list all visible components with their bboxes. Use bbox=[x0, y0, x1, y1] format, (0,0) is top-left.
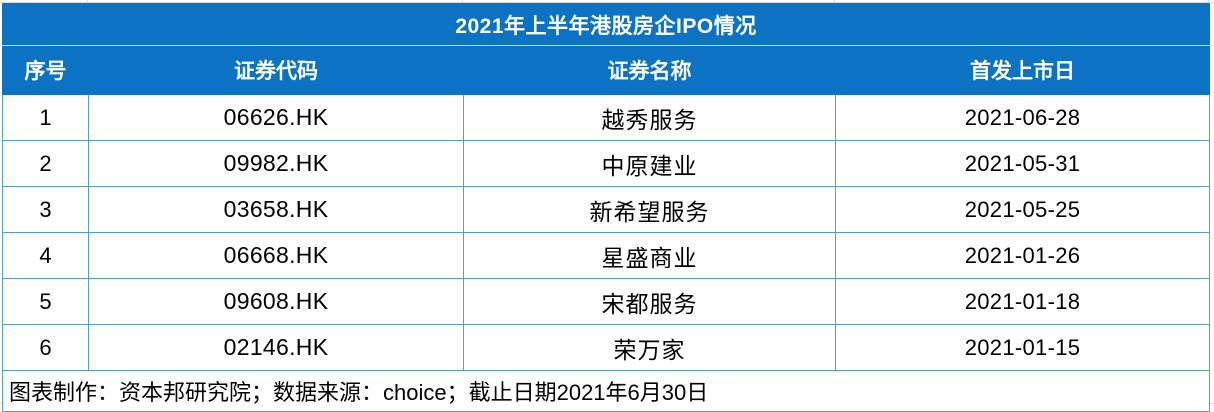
table-row: 3 03658.HK 新希望服务 2021-05-25 bbox=[3, 187, 1210, 233]
cell-code[interactable]: 03658.HK bbox=[89, 187, 464, 233]
ipo-table: 2021年上半年港股房企IPO情况 序号 证券代码 证券名称 首发上市日 1 0… bbox=[2, 3, 1210, 412]
table-row: 6 02146.HK 荣万家 2021-01-15 bbox=[3, 325, 1210, 371]
table-footer-row: 图表制作：资本邦研究院；数据来源：choice；截止日期2021年6月30日 bbox=[3, 371, 1210, 412]
cell-code[interactable]: 06668.HK bbox=[89, 233, 464, 279]
cell-code[interactable]: 09608.HK bbox=[89, 279, 464, 325]
spreadsheet-canvas: 2021年上半年港股房企IPO情况 序号 证券代码 证券名称 首发上市日 1 0… bbox=[0, 0, 1214, 412]
cell-date[interactable]: 2021-06-28 bbox=[836, 95, 1210, 141]
cell-date[interactable]: 2021-05-25 bbox=[836, 187, 1210, 233]
cell-no[interactable]: 3 bbox=[3, 187, 89, 233]
cell-name[interactable]: 星盛商业 bbox=[464, 233, 836, 279]
cell-no[interactable]: 5 bbox=[3, 279, 89, 325]
cell-no[interactable]: 1 bbox=[3, 95, 89, 141]
cell-name[interactable]: 新希望服务 bbox=[464, 187, 836, 233]
column-header-code[interactable]: 证券代码 bbox=[89, 46, 464, 95]
table-title-row: 2021年上半年港股房企IPO情况 bbox=[3, 4, 1210, 46]
column-header-date[interactable]: 首发上市日 bbox=[836, 46, 1210, 95]
column-header-no[interactable]: 序号 bbox=[3, 46, 89, 95]
ipo-table-container: 2021年上半年港股房企IPO情况 序号 证券代码 证券名称 首发上市日 1 0… bbox=[2, 3, 1209, 404]
table-row: 5 09608.HK 宋都服务 2021-01-18 bbox=[3, 279, 1210, 325]
cell-name[interactable]: 宋都服务 bbox=[464, 279, 836, 325]
cell-no[interactable]: 6 bbox=[3, 325, 89, 371]
cell-date[interactable]: 2021-01-15 bbox=[836, 325, 1210, 371]
cell-name[interactable]: 荣万家 bbox=[464, 325, 836, 371]
cell-name[interactable]: 中原建业 bbox=[464, 141, 836, 187]
column-header-name[interactable]: 证券名称 bbox=[464, 46, 836, 95]
cell-no[interactable]: 4 bbox=[3, 233, 89, 279]
cell-date[interactable]: 2021-01-26 bbox=[836, 233, 1210, 279]
table-row: 4 06668.HK 星盛商业 2021-01-26 bbox=[3, 233, 1210, 279]
cell-date[interactable]: 2021-05-31 bbox=[836, 141, 1210, 187]
cell-date[interactable]: 2021-01-18 bbox=[836, 279, 1210, 325]
table-header-row: 序号 证券代码 证券名称 首发上市日 bbox=[3, 46, 1210, 95]
cell-name[interactable]: 越秀服务 bbox=[464, 95, 836, 141]
table-title: 2021年上半年港股房企IPO情况 bbox=[3, 4, 1210, 46]
cell-code[interactable]: 06626.HK bbox=[89, 95, 464, 141]
source-note[interactable]: 图表制作：资本邦研究院；数据来源：choice；截止日期2021年6月30日 bbox=[3, 371, 1210, 412]
table-row: 2 09982.HK 中原建业 2021-05-31 bbox=[3, 141, 1210, 187]
cell-code[interactable]: 09982.HK bbox=[89, 141, 464, 187]
cell-code[interactable]: 02146.HK bbox=[89, 325, 464, 371]
cell-no[interactable]: 2 bbox=[3, 141, 89, 187]
table-row: 1 06626.HK 越秀服务 2021-06-28 bbox=[3, 95, 1210, 141]
